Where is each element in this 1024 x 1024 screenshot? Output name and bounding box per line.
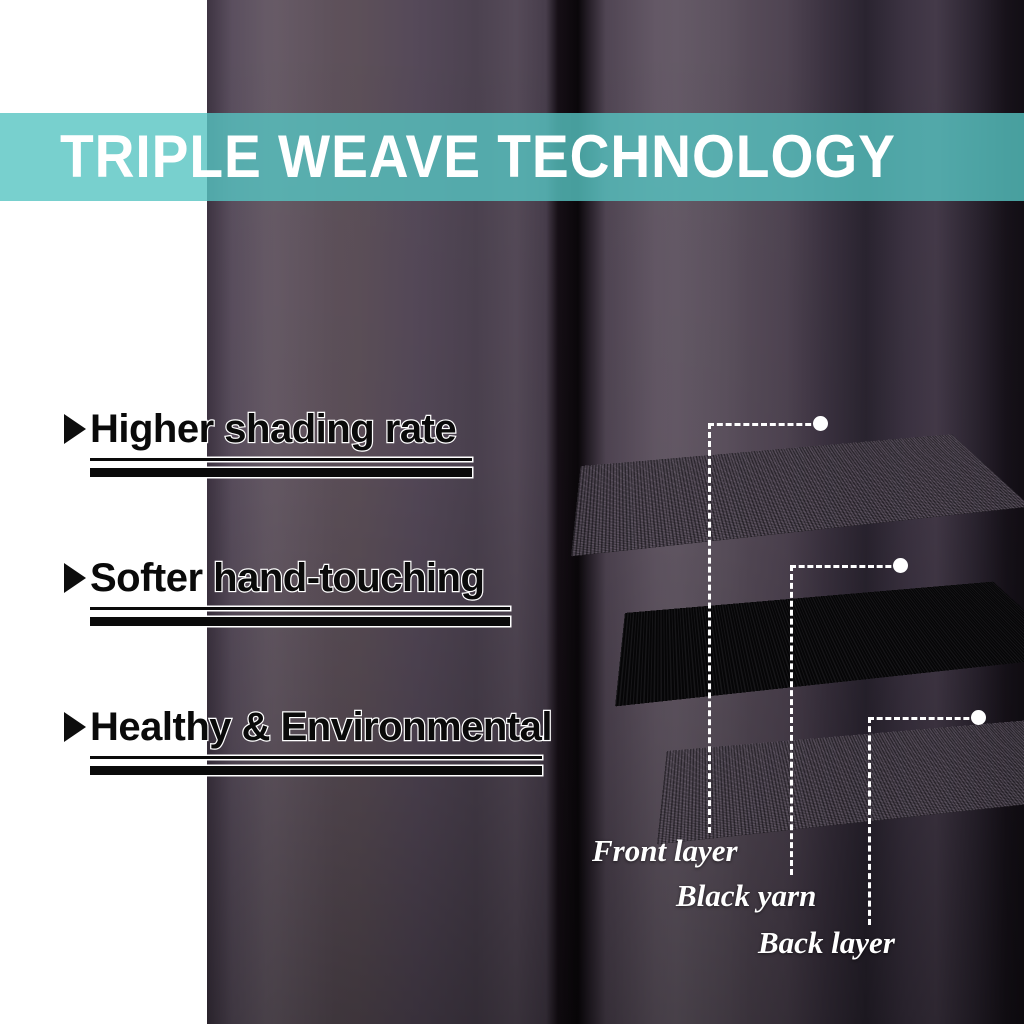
underline-thick-rule (90, 617, 510, 626)
underline-thin-rule (90, 458, 472, 461)
product-infographic: TRIPLE WEAVE TECHNOLOGY Higher shading r… (0, 0, 1024, 1024)
triangle-right-icon (64, 563, 86, 593)
feature-row: Higher shading rate (64, 408, 624, 450)
leader-vertical-segment (708, 423, 711, 833)
feature-item: Healthy & Environmental (64, 706, 624, 775)
banner-title: TRIPLE WEAVE TECHNOLOGY (60, 127, 896, 187)
leader-end-dot (971, 710, 986, 725)
feature-item: Softer hand-touching (64, 557, 624, 626)
underline-thin-rule (90, 756, 542, 759)
leader-end-dot (813, 416, 828, 431)
leader-horizontal-segment (868, 717, 978, 720)
black-yarn-layer-sheet (615, 582, 1024, 707)
leader-vertical-segment (868, 717, 871, 925)
feature-label: Higher shading rate (90, 408, 456, 450)
front-layer-sheet (571, 434, 1024, 556)
leader-horizontal-segment (708, 423, 820, 426)
headline-banner: TRIPLE WEAVE TECHNOLOGY (0, 113, 1024, 201)
underline-thick-rule (90, 766, 542, 775)
feature-item: Higher shading rate (64, 408, 624, 477)
fabric-layer-diagram (580, 300, 1024, 860)
feature-underline (90, 607, 510, 626)
callout-label-front-layer: Front layer (592, 833, 738, 869)
callout-label-back-layer: Back layer (758, 925, 895, 961)
feature-row: Healthy & Environmental (64, 706, 624, 748)
triangle-right-icon (64, 414, 86, 444)
leader-vertical-segment (790, 565, 793, 875)
feature-label: Softer hand-touching (90, 557, 484, 599)
feature-underline (90, 756, 542, 775)
underline-thick-rule (90, 468, 472, 477)
feature-underline (90, 458, 472, 477)
underline-thin-rule (90, 607, 510, 610)
leader-end-dot (893, 558, 908, 573)
feature-list: Higher shading rate Softer hand-touching… (64, 408, 624, 855)
back-layer-sheet (657, 720, 1024, 845)
feature-row: Softer hand-touching (64, 557, 624, 599)
feature-label: Healthy & Environmental (90, 706, 552, 748)
callout-label-black-yarn: Black yarn (676, 878, 816, 914)
leader-horizontal-segment (790, 565, 900, 568)
triangle-right-icon (64, 712, 86, 742)
